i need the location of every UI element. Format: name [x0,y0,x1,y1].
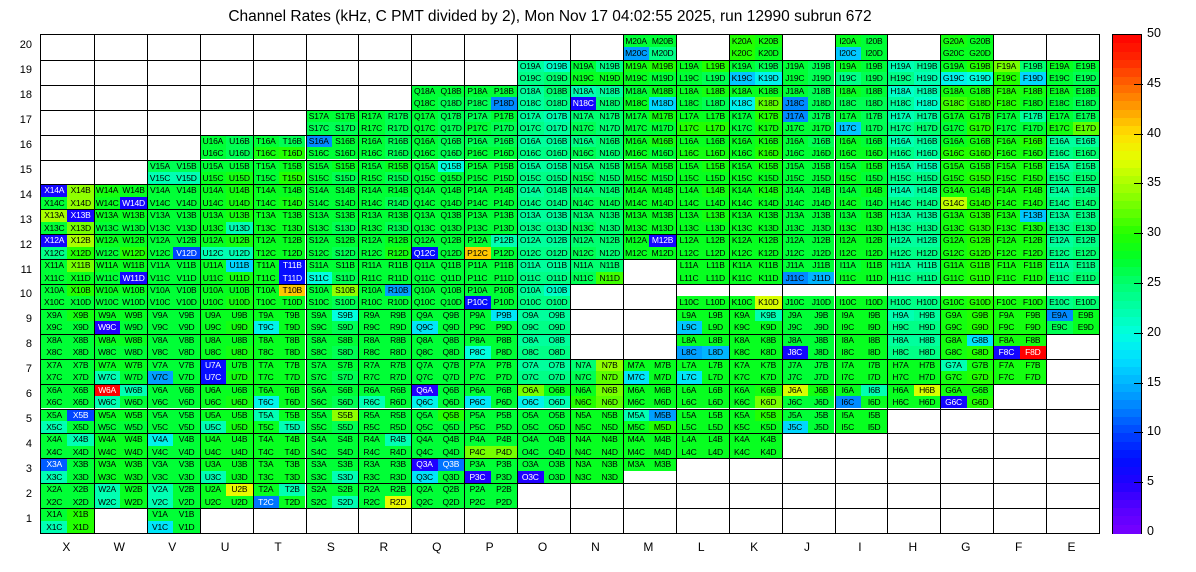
colorbar-tick-label: 30 [1147,225,1161,239]
channel-cell: L4B [702,433,728,445]
y-axis-label: 15 [2,164,32,176]
channel-cell: I8D [861,346,887,358]
channel-cell: H16C [887,147,913,159]
channel-cell: M7B [649,359,675,371]
channel-cell: G16C [940,147,966,159]
channel-cell: H9D [914,321,940,333]
channel-cell: N18B [596,85,622,97]
colorbar-tick-label: 5 [1147,474,1154,488]
channel-cell: T14D [279,197,305,209]
x-axis-label: L [675,540,728,554]
channel-cell: E14B [1073,184,1099,196]
channel-cell: X8B [67,334,93,346]
channel-cell: I11D [861,272,887,284]
channel-cell: X9D [67,321,93,333]
channel-cell: S7C [306,371,332,383]
channel-cell: G11A [940,259,966,271]
channel-cell: X6C [41,396,67,408]
channel-cell: S14A [306,184,332,196]
channel-cell: O16A [517,135,543,147]
channel-cell: Q6A [411,384,437,396]
channel-cell: R17A [358,110,384,122]
channel-cell: K7A [729,359,755,371]
channel-cell: G17A [940,110,966,122]
channel-cell: V7C [147,371,173,383]
channel-cell: X5D [67,421,93,433]
channel-cell: R6B [385,384,411,396]
channel-cell: P2C [464,496,490,508]
channel-cell: N18A [570,85,596,97]
heatmap-cells: X14AX14BX14CX14DX13AX13BX13CX13DX12AX12B… [41,35,1099,533]
channel-cell: F18C [993,97,1019,109]
channel-cell: P15D [491,172,517,184]
channel-cell: S4C [306,446,332,458]
channel-cell: R9C [358,321,384,333]
channel-cell: R3C [358,471,384,483]
channel-cell: U15C [200,172,226,184]
channel-cell: V10B [173,284,199,296]
channel-cell: K14B [755,184,781,196]
channel-cell: X13A [41,209,67,221]
channel-cell: H14B [914,184,940,196]
channel-cell: W9A [94,309,120,321]
channel-cell: G12B [967,234,993,246]
channel-cell: P9A [464,309,490,321]
channel-cell: T10B [279,284,305,296]
channel-cell: S7A [306,359,332,371]
channel-cell: E19D [1073,72,1099,84]
channel-cell: K18B [755,85,781,97]
y-axis-label: 9 [2,313,32,325]
channel-cell: G19B [967,60,993,72]
channel-cell: N11B [596,259,622,271]
channel-cell: F14A [993,184,1019,196]
channel-cell: L6B [702,384,728,396]
channel-cell: H7D [914,371,940,383]
channel-cell: K16B [755,135,781,147]
channel-cell: H14C [887,197,913,209]
channel-cell: U12B [226,234,252,246]
channel-cell: W14A [94,184,120,196]
channel-cell: J19A [782,60,808,72]
channel-cell: T14A [253,184,279,196]
x-axis-label: G [939,540,992,554]
channel-cell: K5B [755,409,781,421]
channel-cell: R7D [385,371,411,383]
y-axis-label: 3 [2,463,32,475]
channel-cell: K5A [729,409,755,421]
channel-cell: R8D [385,346,411,358]
channel-cell: O17C [517,122,543,134]
channel-cell: I20C [835,47,861,59]
channel-cell: W13B [120,209,146,221]
channel-cell: X14D [67,197,93,209]
channel-cell: N19D [596,72,622,84]
channel-cell: J7C [782,371,808,383]
channel-cell: N5D [596,421,622,433]
channel-cell: V10A [147,284,173,296]
channel-cell: F17C [993,122,1019,134]
channel-cell: I11C [835,272,861,284]
channel-cell: H8A [887,334,913,346]
channel-cell: O7B [544,359,570,371]
channel-cell: M17D [649,122,675,134]
channel-cell: J12D [808,247,834,259]
channel-cell: G17D [967,122,993,134]
channel-cell: P11C [464,272,490,284]
channel-cell: H13C [887,222,913,234]
channel-cell: M13D [649,222,675,234]
channel-cell: T10C [253,296,279,308]
channel-cell: Q6D [438,396,464,408]
channel-cell: R5D [385,421,411,433]
channel-cell: S12A [306,234,332,246]
channel-cell: Q8D [438,346,464,358]
channel-cell: H10C [887,296,913,308]
channel-cell: X2C [41,496,67,508]
channel-cell: F8A [993,334,1019,346]
channel-cell: G11D [967,272,993,284]
colorbar-tick [1134,134,1143,135]
channel-cell: O11B [544,259,570,271]
channel-cell: N12C [570,247,596,259]
channel-cell: H13A [887,209,913,221]
channel-cell: G14C [940,197,966,209]
channel-cell: J14A [782,184,808,196]
channel-cell: M3B [649,458,675,470]
channel-cell: L4A [676,433,702,445]
channel-cell: O8D [544,346,570,358]
channel-cell: X11C [41,272,67,284]
channel-cell: G13D [967,222,993,234]
channel-cell: W11A [94,259,120,271]
channel-cell: U15B [226,160,252,172]
channel-cell: I9C [835,321,861,333]
channel-cell: L7B [702,359,728,371]
channel-cell: O10D [544,296,570,308]
channel-cell: J11A [782,259,808,271]
channel-cell: W4D [120,446,146,458]
channel-cell: G14B [967,184,993,196]
channel-cell: N12B [596,234,622,246]
channel-cell: J5C [782,421,808,433]
channel-cell: O6C [517,396,543,408]
channel-cell: M15B [649,160,675,172]
page-title: Channel Rates (kHz, C PMT divided by 2),… [0,8,1100,26]
channel-cell: O12A [517,234,543,246]
channel-cell: X3A [41,458,67,470]
channel-cell: N4D [596,446,622,458]
channel-cell: J16A [782,135,808,147]
channel-cell: J18D [808,97,834,109]
channel-cell: R5A [358,409,384,421]
x-axis-label: E [1045,540,1098,554]
channel-cell: V8C [147,346,173,358]
channel-cell: P10B [491,284,517,296]
channel-cell: R14B [385,184,411,196]
channel-cell: J17D [808,122,834,134]
channel-cell: V5D [173,421,199,433]
channel-cell: Q7C [411,371,437,383]
channel-cell: G12C [940,247,966,259]
channel-cell: X4A [41,433,67,445]
y-axis-label: 12 [2,239,32,251]
channel-cell: K16D [755,147,781,159]
channel-cell: I9B [861,309,887,321]
channel-cell: H6B [914,384,940,396]
channel-cell: L5B [702,409,728,421]
channel-cell: K7B [755,359,781,371]
channel-cell: J9D [808,321,834,333]
channel-cell: R7C [358,371,384,383]
channel-cell: U5B [226,409,252,421]
channel-cell: L12D [702,247,728,259]
channel-cell: Q12D [438,247,464,259]
channel-cell: P15C [464,172,490,184]
channel-cell: N5C [570,421,596,433]
channel-cell: I8A [835,334,861,346]
channel-cell: I7A [835,359,861,371]
channel-cell: P14D [491,197,517,209]
channel-cell: T4D [279,446,305,458]
channel-cell: W3A [94,458,120,470]
channel-cell: G7C [940,371,966,383]
channel-cell: E12A [1046,234,1072,246]
channel-cell: K14A [729,184,755,196]
channel-cell: O5C [517,421,543,433]
channel-cell: X8C [41,346,67,358]
channel-cell: V15B [173,160,199,172]
channel-cell: J8B [808,334,834,346]
channel-cell: K13C [729,222,755,234]
channel-cell: K19C [729,72,755,84]
channel-cell: M14B [649,184,675,196]
channel-cell: F18D [1020,97,1046,109]
y-axis-label: 17 [2,114,32,126]
channel-cell: F14D [1020,197,1046,209]
channel-cell: K18D [755,97,781,109]
channel-cell: N7B [596,359,622,371]
channel-cell: L13B [702,209,728,221]
channel-cell: R14D [385,197,411,209]
colorbar-tick [1134,383,1143,384]
channel-cell: K15C [729,172,755,184]
channel-cell: U12A [200,234,226,246]
channel-cell: T5D [279,421,305,433]
channel-cell: S10C [306,296,332,308]
channel-cell: G6B [967,384,993,396]
channel-cell: L9C [676,321,702,333]
channel-cell: H11C [887,272,913,284]
channel-cell: R13C [358,222,384,234]
channel-cell: I17C [835,122,861,134]
channel-cell: G8C [940,346,966,358]
channel-cell: P17D [491,122,517,134]
channel-cell: Q18A [411,85,437,97]
channel-cell: P12B [491,234,517,246]
channel-cell: U15A [200,160,226,172]
channel-cell: P13D [491,222,517,234]
channel-cell: E15B [1073,160,1099,172]
channel-cell: O12B [544,234,570,246]
channel-cell: V13A [147,209,173,221]
channel-cell: U7B [226,359,252,371]
channel-cell: N13A [570,209,596,221]
channel-cell: I19A [835,60,861,72]
channel-cell: X11A [41,259,67,271]
channel-cell: R16B [385,135,411,147]
channel-cell: M16B [649,135,675,147]
channel-cell: T12B [279,234,305,246]
channel-cell: F13C [993,222,1019,234]
channel-cell: P7C [464,371,490,383]
channel-cell: M5D [649,421,675,433]
channel-cell: I14C [835,197,861,209]
channel-cell: J15C [782,172,808,184]
channel-cell: V12A [147,234,173,246]
channel-cell: J18A [782,85,808,97]
channel-cell: V7A [147,359,173,371]
channel-cell: K13B [755,209,781,221]
channel-cell: P16A [464,135,490,147]
channel-cell: J12B [808,234,834,246]
channel-cell: J6A [782,384,808,396]
channel-cell: T16C [253,147,279,159]
channel-cell: R15B [385,160,411,172]
channel-cell: G9D [967,321,993,333]
channel-cell: K11C [729,272,755,284]
channel-cell: F19A [993,60,1019,72]
channel-cell: P17C [464,122,490,134]
channel-cell: I16A [835,135,861,147]
channel-cell: X2B [67,483,93,495]
channel-cell: L4C [676,446,702,458]
channel-cell: I13B [861,209,887,221]
channel-cell: S6D [332,396,358,408]
channel-cell: Q15C [411,172,437,184]
channel-cell: T10A [253,284,279,296]
channel-cell: M14C [623,197,649,209]
channel-cell: L16B [702,135,728,147]
channel-cell: M4D [649,446,675,458]
channel-cell: U2A [200,483,226,495]
channel-cell: U6A [200,384,226,396]
channel-cell: S12C [306,247,332,259]
channel-cell: W13A [94,209,120,221]
channel-cell: X3C [41,471,67,483]
channel-cell: L4D [702,446,728,458]
channel-cell: J7A [782,359,808,371]
channel-cell: K18C [729,97,755,109]
channel-cell: E18B [1073,85,1099,97]
channel-cell: J7D [808,371,834,383]
channel-cell: E14D [1073,197,1099,209]
channel-cell: K16A [729,135,755,147]
channel-cell: Q8A [411,334,437,346]
channel-cell: L16D [702,147,728,159]
channel-cell: O10B [544,284,570,296]
channel-cell: S7D [332,371,358,383]
channel-cell: Q11A [411,259,437,271]
channel-cell: M18B [649,85,675,97]
y-axis-label: 10 [2,288,32,300]
channel-cell: I11A [835,259,861,271]
y-axis-label: 20 [2,39,32,51]
channel-cell: L19B [702,60,728,72]
channel-cell: I20A [835,35,861,47]
channel-cell: P15A [464,160,490,172]
channel-cell: N19C [570,72,596,84]
channel-cell: K4B [755,433,781,445]
channel-cell: K9D [755,321,781,333]
channel-cell: L19A [676,60,702,72]
channel-cell: K4C [729,446,755,458]
x-axis-label: F [992,540,1045,554]
channel-cell: M19B [649,60,675,72]
channel-cell: U5D [226,421,252,433]
channel-cell: W11D [120,272,146,284]
channel-cell: J8D [808,346,834,358]
channel-cell: W9C [94,321,120,333]
channel-cell: T6C [253,396,279,408]
channel-cell: V5C [147,421,173,433]
channel-cell: W8A [94,334,120,346]
channel-cell: S5C [306,421,332,433]
channel-cell: E18D [1073,97,1099,109]
channel-cell: T16A [253,135,279,147]
channel-cell: L11C [676,272,702,284]
channel-cell: M12B [649,234,675,246]
channel-cell: O7C [517,371,543,383]
channel-cell: R17D [385,122,411,134]
channel-cell: X12A [41,234,67,246]
channel-cell: R13A [358,209,384,221]
channel-cell: S9C [306,321,332,333]
channel-cell: S3D [332,471,358,483]
channel-cell: N7A [570,359,596,371]
channel-cell: H15C [887,172,913,184]
channel-cell: E19B [1073,60,1099,72]
channel-cell: U4D [226,446,252,458]
channel-cell: X5A [41,409,67,421]
channel-cell: L8D [702,346,728,358]
channel-cell: L18A [676,85,702,97]
channel-cell: V6D [173,396,199,408]
channel-cell: X7D [67,371,93,383]
channel-cell: R10A [358,284,384,296]
colorbar-tick-label: 0 [1147,524,1154,538]
channel-cell: P18C [464,97,490,109]
channel-cell: I5A [835,409,861,421]
channel-cell: M18A [623,85,649,97]
channel-cell: E12B [1073,234,1099,246]
channel-cell: N5A [570,409,596,421]
channel-cell: J18C [782,97,808,109]
channel-cell: V1B [173,508,199,520]
channel-cell: F7B [1020,359,1046,371]
channel-cell: O11D [544,272,570,284]
channel-cell: F7A [993,359,1019,371]
channel-cell: L8C [676,346,702,358]
channel-cell: Q17D [438,122,464,134]
channel-cell: P10D [491,296,517,308]
channel-cell: Q18D [438,97,464,109]
channel-cell: K8C [729,346,755,358]
channel-cell: Q3C [411,471,437,483]
channel-cell: P4A [464,433,490,445]
channel-cell: Q17C [411,122,437,134]
channel-cell: U7C [200,371,226,383]
